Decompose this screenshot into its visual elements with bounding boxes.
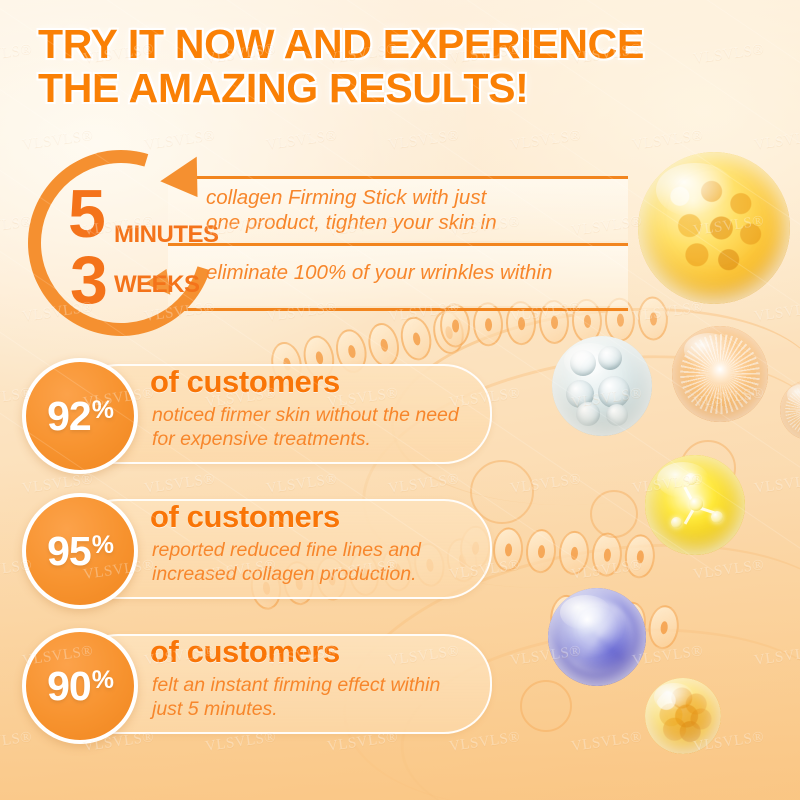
orange-radial-sphere-edge [780, 380, 800, 440]
timing-text-weeks-line1: eliminate 100% of your wrinkles within [206, 261, 552, 284]
timing-rule-bottom [168, 308, 628, 311]
percent-sign: % [92, 533, 113, 558]
percent-sign: % [92, 668, 113, 693]
stat-percent-number: 95 [47, 531, 91, 572]
stat-subtext: felt an instant firming effect within ju… [152, 674, 512, 722]
blue-swirl-sphere [548, 588, 646, 686]
timing-rule-middle [168, 243, 628, 246]
timing-unit-minutes: MINUTES [114, 221, 219, 249]
watermark-text: VLSVLS® [753, 299, 800, 326]
watermark-text: VLSVLS® [570, 557, 643, 584]
page-headline: TRY IT NOW AND EXPERIENCE THE AMAZING RE… [38, 22, 758, 111]
timing-rule-top [168, 176, 628, 179]
stat-subtext-line2: for expensive treatments. [152, 428, 371, 450]
stat-row-95: 95% of customers reported reduced fine l… [22, 493, 492, 603]
watermark-text: VLSVLS® [570, 729, 643, 756]
headline-line-1: TRY IT NOW AND EXPERIENCE [38, 21, 644, 67]
stat-subtext-line2: increased collagen production. [152, 563, 417, 585]
stat-heading: of customers [150, 364, 340, 400]
stat-percent-number: 90 [47, 666, 91, 707]
yellow-molecule-sphere [645, 455, 745, 555]
orange-radial-sphere [672, 326, 768, 422]
stat-row-92: 92% of customers noticed firmer skin wit… [22, 358, 492, 468]
infographic-canvas: TRY IT NOW AND EXPERIENCE THE AMAZING RE… [0, 0, 800, 800]
stat-subtext-line2: just 5 minutes. [152, 698, 278, 720]
watermark-text: VLSVLS® [0, 41, 33, 68]
timing-section: 5 MINUTES 3 WEEKS collagen Firming Stick… [28, 150, 598, 315]
timing-number-weeks: 3 [70, 246, 108, 314]
stat-heading: of customers [150, 499, 340, 535]
watermark-text: VLSVLS® [509, 471, 582, 498]
stat-badge-90: 90% [22, 628, 138, 744]
headline-line-2: THE AMAZING RESULTS! [38, 66, 758, 110]
watermark-text: VLSVLS® [631, 299, 704, 326]
stat-row-90: 90% of customers felt an instant firming… [22, 628, 492, 738]
timing-unit-weeks: WEEKS [114, 271, 200, 299]
stat-badge-95: 95% [22, 493, 138, 609]
percent-sign: % [92, 398, 113, 423]
stat-subtext: reported reduced fine lines and increase… [152, 539, 512, 587]
timing-number-minutes: 5 [68, 180, 106, 248]
stat-subtext-line1: noticed firmer skin without the need [152, 404, 459, 426]
honeycomb-sphere-small [645, 678, 721, 754]
watermark-text: VLSVLS® [631, 127, 704, 154]
timing-text-minutes: collagen Firming Stick with just one pro… [206, 185, 497, 235]
clear-bubbles-sphere [552, 336, 652, 436]
stat-percent-value: 90% [47, 666, 113, 707]
timing-text-minutes-line1: collagen Firming Stick with just [206, 186, 486, 209]
watermark-text: VLSVLS® [753, 643, 800, 670]
stat-subtext-line1: felt an instant firming effect within [152, 674, 440, 696]
timing-text-minutes-line2: one product, tighten your skin in [206, 211, 497, 234]
stat-percent-value: 92% [47, 396, 113, 437]
stat-subtext: noticed firmer skin without the need for… [152, 404, 512, 452]
stat-percent-number: 92 [47, 396, 91, 437]
honeycomb-sphere-large [638, 152, 790, 304]
stat-percent-value: 95% [47, 531, 113, 572]
stat-heading: of customers [150, 634, 340, 670]
stat-subtext-line1: reported reduced fine lines and [152, 539, 421, 561]
stat-badge-92: 92% [22, 358, 138, 474]
watermark-text: VLSVLS® [753, 471, 800, 498]
timing-text-weeks: eliminate 100% of your wrinkles within [206, 260, 552, 285]
watermark-text: VLSVLS® [692, 557, 765, 584]
watermark-text: VLSVLS® [753, 127, 800, 154]
